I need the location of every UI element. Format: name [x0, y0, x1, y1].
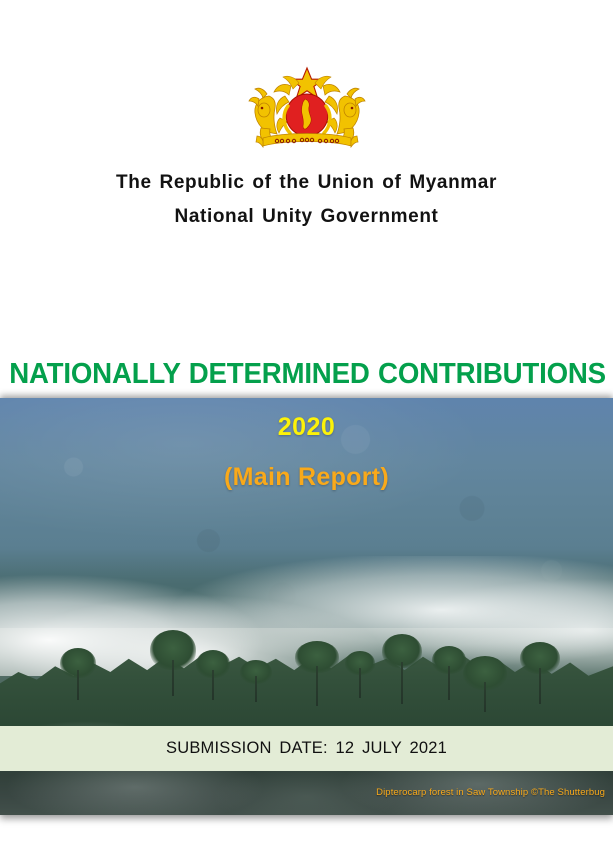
state-emblem-block — [0, 66, 613, 163]
title-year: 2020 — [0, 413, 613, 442]
country-name: The Republic of the Union of Myanmar — [0, 166, 613, 200]
myanmar-state-seal-icon — [247, 66, 367, 158]
photo-caption: Dipterocarp forest in Saw Township ©The … — [376, 787, 605, 798]
government-name: National Unity Government — [0, 200, 613, 234]
header-text-block: The Republic of the Union of Myanmar Nat… — [0, 166, 613, 234]
submission-date-text: SUBMISSION DATE: 12 JULY 2021 — [166, 739, 447, 758]
title-subtitle: (Main Report) — [0, 463, 613, 492]
page-title: NATIONALLY DETERMINED CONTRIBUTIONS — [9, 358, 604, 391]
submission-date-bar: SUBMISSION DATE: 12 JULY 2021 — [0, 726, 613, 771]
